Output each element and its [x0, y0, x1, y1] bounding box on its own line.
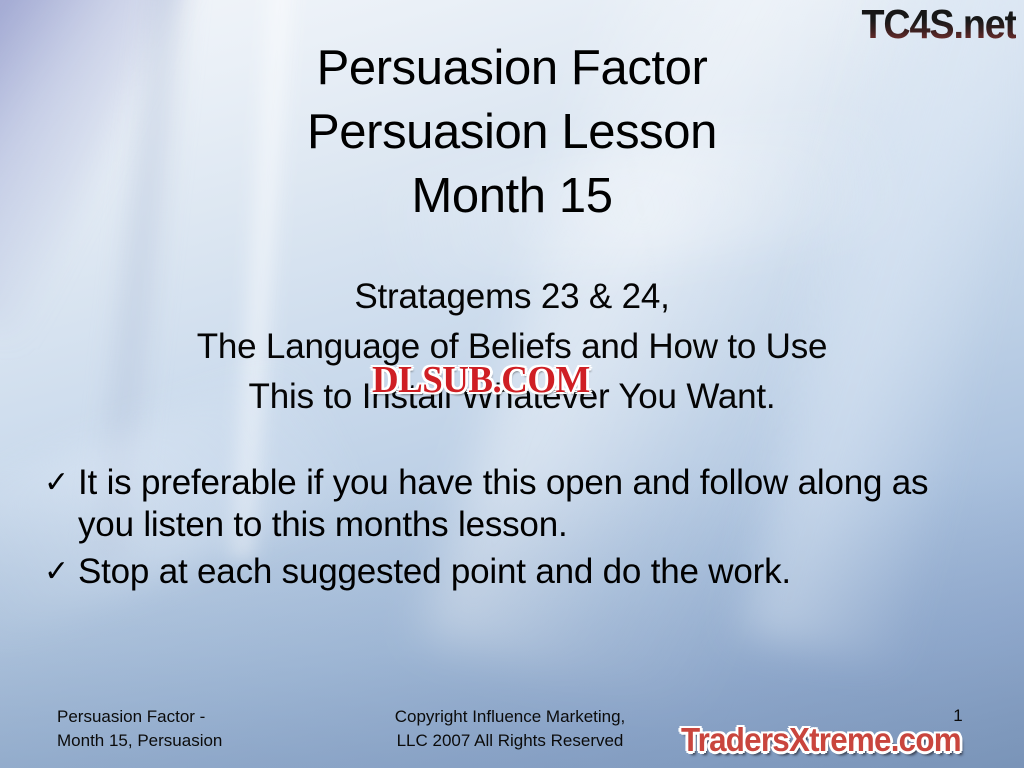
- checkmark-icon: ✓: [44, 551, 78, 593]
- footer-left-line-1: Persuasion Factor -: [57, 705, 222, 729]
- dlsub-watermark: DLSUB.COM: [372, 358, 590, 402]
- list-item-text: It is preferable if you have this open a…: [78, 462, 944, 546]
- title-line-1: Persuasion Factor: [0, 36, 1024, 100]
- footer-left: Persuasion Factor - Month 15, Persuasion: [57, 705, 222, 753]
- checkmark-icon: ✓: [44, 462, 78, 504]
- bullet-list: ✓ It is preferable if you have this open…: [44, 462, 944, 598]
- title-line-2: Persuasion Lesson: [0, 100, 1024, 164]
- list-item: ✓ Stop at each suggested point and do th…: [44, 551, 944, 593]
- presentation-slide: TC4S.net Persuasion Factor Persuasion Le…: [0, 0, 1024, 768]
- title-line-3: Month 15: [0, 164, 1024, 228]
- footer-left-line-2: Month 15, Persuasion: [57, 729, 222, 753]
- subtitle-line-1: Stratagems 23 & 24,: [0, 272, 1024, 322]
- footer-copyright: Copyright Influence Marketing, LLC 2007 …: [330, 705, 690, 753]
- footer-copyright-line-1: Copyright Influence Marketing,: [330, 705, 690, 729]
- list-item-text: Stop at each suggested point and do the …: [78, 551, 944, 593]
- footer-copyright-line-2: LLC 2007 All Rights Reserved: [330, 729, 690, 753]
- tradersxtreme-logo: TradersXtreme.com: [681, 721, 961, 759]
- list-item: ✓ It is preferable if you have this open…: [44, 462, 944, 546]
- slide-title: Persuasion Factor Persuasion Lesson Mont…: [0, 36, 1024, 228]
